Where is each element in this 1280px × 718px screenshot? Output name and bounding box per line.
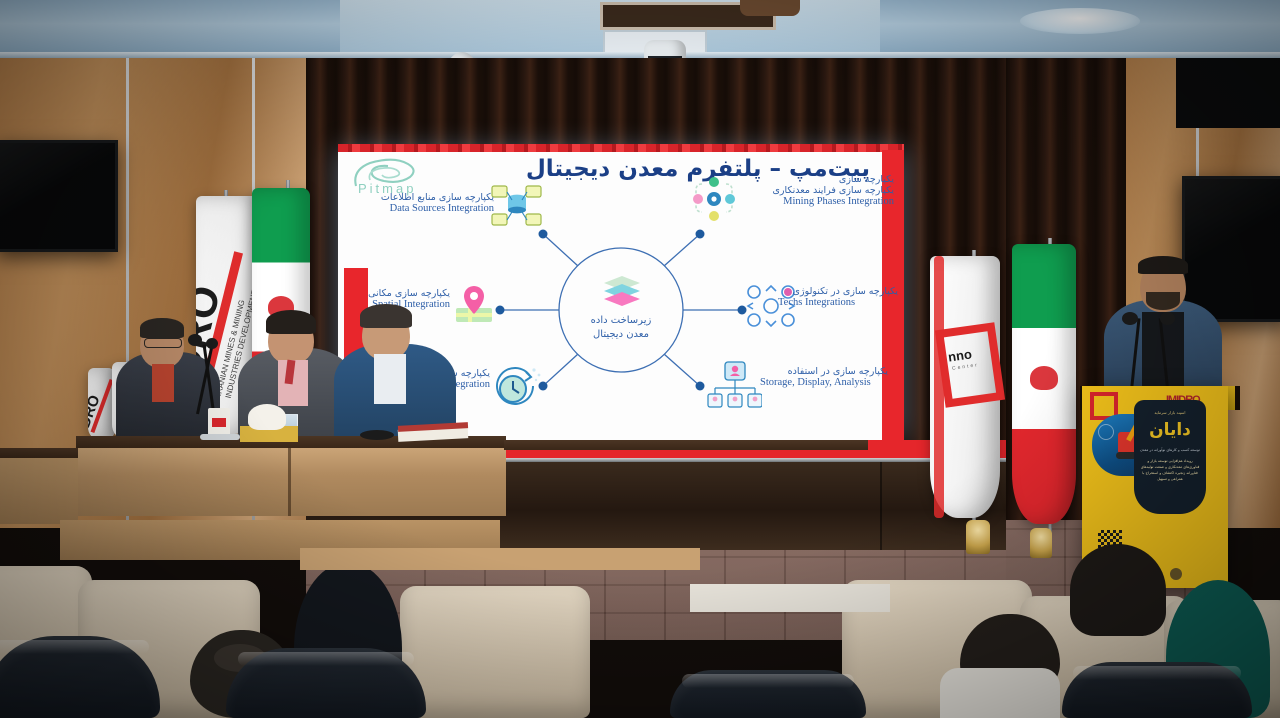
node-mining-phases: یکپارچه سازی یکپارچه سازی فرایند معدنکار… bbox=[734, 174, 898, 207]
tissue bbox=[248, 404, 286, 430]
wall-tv-right bbox=[1182, 176, 1280, 322]
stage-edge-trim bbox=[300, 548, 700, 570]
microphone-head-1 bbox=[188, 334, 202, 346]
audience-chair-cream-3[interactable] bbox=[400, 586, 590, 718]
floor-lamp-base-2 bbox=[1030, 528, 1052, 558]
audience-chair-dark-1[interactable] bbox=[0, 636, 160, 718]
panel-table-front-left bbox=[0, 458, 78, 524]
photo-scene: Pitmap پیت‌مپ – پلتفرم معدن دیجیتال bbox=[0, 0, 1280, 718]
panelist-2-hair bbox=[266, 310, 316, 334]
banner-paragraph: رویداد هم‌افزایی توسعه بازار و فناوری‌ها… bbox=[1140, 458, 1200, 482]
banner-headline: دایان bbox=[1134, 420, 1206, 440]
panelist-3-hair bbox=[360, 304, 412, 328]
saucer bbox=[200, 434, 240, 440]
panelist-1-shirt bbox=[152, 364, 174, 402]
panel-table-top-left bbox=[0, 448, 78, 458]
node-data-sources: یکپارچه سازی منابع اطلاعات Data Sources … bbox=[344, 192, 494, 214]
ceiling-light bbox=[1020, 8, 1140, 34]
map-pin-icon bbox=[450, 282, 498, 328]
speaker-beard bbox=[1146, 292, 1180, 310]
speaker-hair bbox=[1138, 256, 1188, 274]
banner-tagline: توسعه کسب و کارهای نوآورانه در معدن bbox=[1134, 448, 1206, 452]
gears-dots-icon bbox=[690, 176, 738, 222]
iran-emblem bbox=[1030, 366, 1058, 390]
railing-ledge bbox=[690, 584, 890, 612]
panelist-1-hair bbox=[140, 318, 184, 338]
node-storage: یکپارچه سازی در استفاده Storage, Display… bbox=[760, 366, 888, 388]
clock-icon bbox=[492, 362, 542, 408]
wall-tv-right-top bbox=[1176, 58, 1280, 128]
stage-panel-seam bbox=[880, 462, 882, 550]
server-users-icon bbox=[706, 360, 762, 410]
layers-icon bbox=[600, 274, 644, 308]
panelist-3-shirt bbox=[374, 354, 406, 404]
audience-person-white-coat bbox=[940, 668, 1060, 718]
deco-circle bbox=[1098, 424, 1114, 440]
coffee-cup-label bbox=[212, 418, 226, 427]
wall-tv-left bbox=[0, 140, 118, 252]
phone bbox=[360, 430, 394, 440]
audience-chair-dark-3[interactable] bbox=[670, 670, 866, 718]
flag-edge-stripe bbox=[934, 256, 944, 518]
node-techs: یکپارچه سازی در تکنولوژی Techs Integrati… bbox=[778, 286, 898, 308]
floor-lamp-base bbox=[966, 520, 990, 554]
microphone-head-2 bbox=[206, 338, 218, 349]
podium-mic-head-1 bbox=[1122, 312, 1138, 325]
panel-table-seam bbox=[288, 448, 291, 516]
hub-label: زیرساخت داده معدن دیجیتال bbox=[571, 314, 671, 341]
podium-mic-head-2 bbox=[1160, 312, 1175, 325]
flag-iran-right bbox=[1012, 244, 1076, 524]
panel-table-front bbox=[76, 448, 506, 516]
database-folders-icon bbox=[490, 182, 544, 230]
banner-kicker: اسپند بازار سرمایه bbox=[1134, 410, 1206, 415]
ceiling-beam bbox=[740, 0, 800, 16]
audience-chair-dark-4[interactable] bbox=[1062, 662, 1252, 718]
panelist-1-glasses bbox=[144, 338, 182, 348]
audience-person-head-3 bbox=[1070, 544, 1166, 636]
audience-chair-dark-2[interactable] bbox=[226, 648, 426, 718]
flag-inno-center: nno Center bbox=[930, 256, 1000, 518]
banner-dark-panel: اسپند بازار سرمایه دایان توسعه کسب و کار… bbox=[1134, 400, 1206, 514]
side-counter-top bbox=[504, 440, 868, 450]
sponsor-logo-3 bbox=[1170, 568, 1182, 580]
